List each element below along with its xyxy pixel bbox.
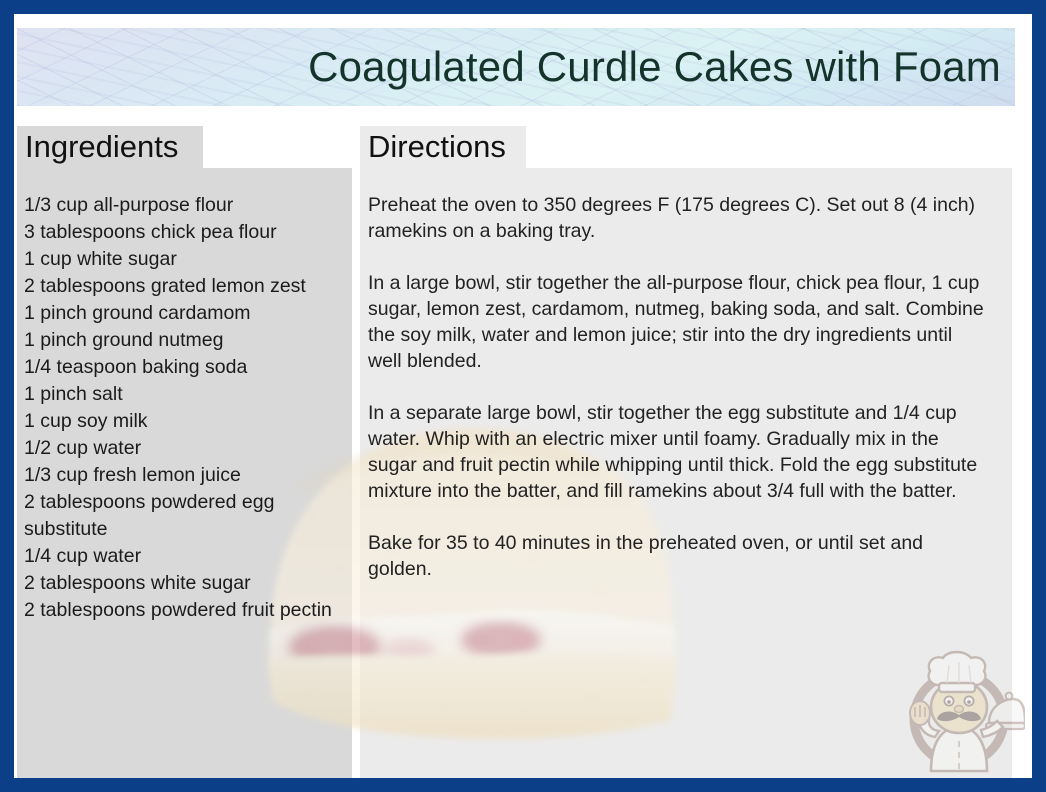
- direction-step: Preheat the oven to 350 degrees F (175 d…: [368, 192, 988, 244]
- chef-mascot-logo: [893, 645, 1025, 777]
- directions-heading: Directions: [368, 131, 506, 164]
- ingredient-item: 2 tablespoons white sugar: [24, 570, 344, 597]
- ingredient-item: 2 tablespoons powdered egg substitute: [24, 489, 344, 543]
- ingredient-item: 1 cup white sugar: [24, 246, 344, 273]
- ingredient-item: 1/3 cup all-purpose flour: [24, 192, 344, 219]
- ingredients-heading: Ingredients: [25, 131, 178, 164]
- ingredient-item: 1/4 cup water: [24, 543, 344, 570]
- ingredient-item: 2 tablespoons grated lemon zest: [24, 273, 344, 300]
- ingredient-item: 1 pinch salt: [24, 381, 344, 408]
- direction-step: In a separate large bowl, stir together …: [368, 400, 988, 504]
- ingredient-item: 2 tablespoons powdered fruit pectin: [24, 597, 344, 624]
- ingredient-item: 3 tablespoons chick pea flour: [24, 219, 344, 246]
- ingredient-item: 1/2 cup water: [24, 435, 344, 462]
- directions-body: Preheat the oven to 350 degrees F (175 d…: [368, 192, 988, 608]
- ingredient-item: 1 cup soy milk: [24, 408, 344, 435]
- direction-step: In a large bowl, stir together the all-p…: [368, 270, 988, 374]
- direction-step: Bake for 35 to 40 minutes in the preheat…: [368, 530, 988, 582]
- recipe-card: Coagulated Curdle Cakes with Foam Ingred…: [0, 0, 1046, 792]
- ingredient-item: 1/4 teaspoon baking soda: [24, 354, 344, 381]
- ingredient-item: 1 pinch ground nutmeg: [24, 327, 344, 354]
- ingredient-item: 1 pinch ground cardamom: [24, 300, 344, 327]
- ingredient-item: 1/3 cup fresh lemon juice: [24, 462, 344, 489]
- ingredients-list: 1/3 cup all-purpose flour3 tablespoons c…: [24, 192, 344, 624]
- card-content: Ingredients 1/3 cup all-purpose flour3 t…: [0, 0, 1046, 792]
